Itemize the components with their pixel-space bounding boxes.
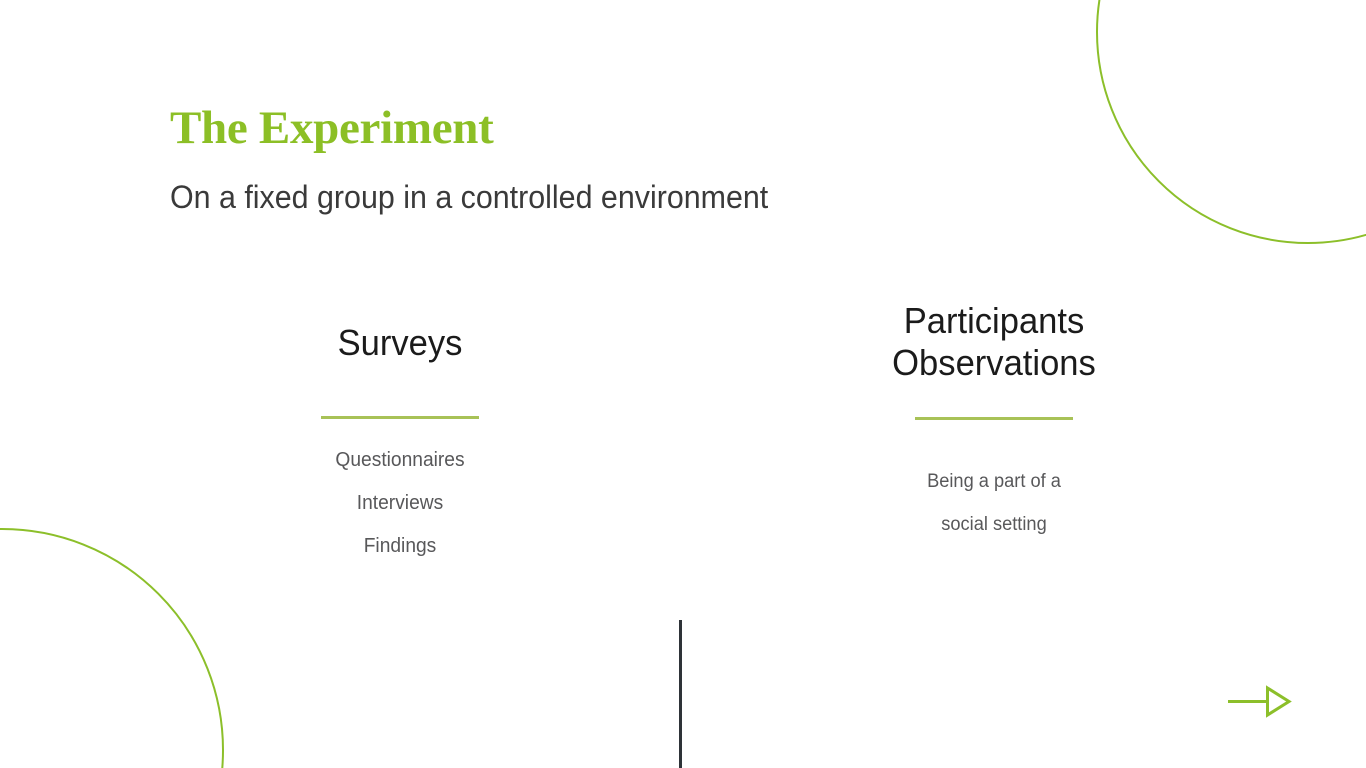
page-subtitle: On a fixed group in a controlled environ… <box>170 153 1025 216</box>
slide-canvas: The Experiment On a fixed group in a con… <box>0 0 1366 768</box>
column-separator <box>679 620 682 768</box>
list-item: Findings <box>246 525 553 568</box>
column-observations-heading-line-2: Observations <box>842 342 1145 384</box>
arrow-right-icon[interactable] <box>1226 682 1292 722</box>
column-participants-observations-heading: Participants Observations <box>842 300 1145 385</box>
page-title: The Experiment <box>170 104 1070 153</box>
list-item: Being a part of a <box>842 460 1145 503</box>
decorative-arc-top-right-icon <box>1096 0 1366 244</box>
list-item: social setting <box>842 503 1145 546</box>
list-item: Interviews <box>246 482 553 525</box>
column-observations-list: Being a part of a social setting <box>842 420 1145 546</box>
column-surveys-list: Questionnaires Interviews Findings <box>246 419 553 568</box>
slide-header: The Experiment On a fixed group in a con… <box>170 104 1070 217</box>
column-surveys-heading-line: Surveys <box>246 322 553 364</box>
column-surveys-heading: Surveys <box>246 300 553 364</box>
column-observations-heading-line-1: Participants <box>842 300 1145 342</box>
list-item: Questionnaires <box>246 439 553 482</box>
content-columns: Surveys Questionnaires Interviews Findin… <box>0 300 1366 700</box>
column-surveys: Surveys Questionnaires Interviews Findin… <box>240 300 560 568</box>
column-participants-observations: Participants Observations Being a part o… <box>836 300 1152 546</box>
